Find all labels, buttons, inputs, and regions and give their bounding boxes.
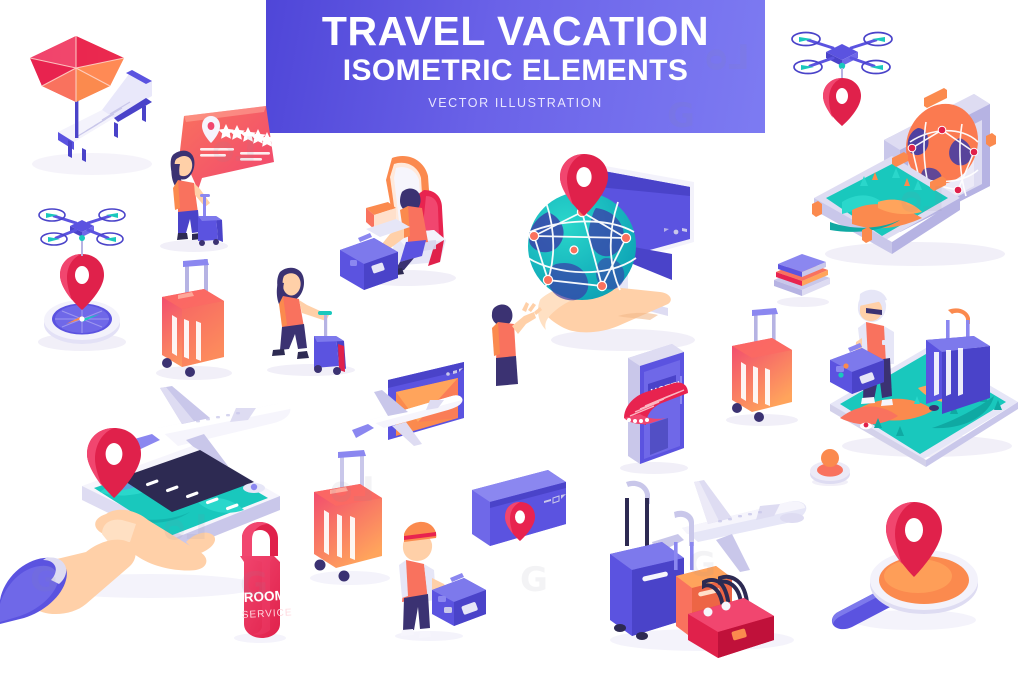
airplane-seat-passenger bbox=[336, 150, 466, 295]
room-service-hanger[interactable]: ROOM SERVICE bbox=[216, 520, 301, 645]
luggage-airplane-group bbox=[592, 458, 817, 653]
rolling-suitcase-icon bbox=[314, 311, 346, 375]
page-title: TRAVEL VACATION bbox=[322, 8, 709, 54]
briefcase-icon bbox=[432, 573, 486, 626]
drone-icon bbox=[39, 209, 125, 245]
svg-text:SERVICE: SERVICE bbox=[242, 607, 293, 621]
person-looking-up bbox=[492, 302, 542, 386]
title-banner: TRAVEL VACATION ISOMETRIC ELEMENTS VECTO… bbox=[266, 0, 765, 133]
hotel-phone-awning[interactable]: HOTEL bbox=[606, 336, 701, 476]
map-pin-icon bbox=[60, 254, 104, 310]
blue-suitcase-icon bbox=[610, 481, 684, 640]
beach-umbrella-icon bbox=[30, 36, 124, 102]
svg-text:ROOM: ROOM bbox=[243, 588, 286, 605]
page-tagline: VECTOR ILLUSTRATION bbox=[428, 95, 602, 111]
drone-icon bbox=[792, 33, 892, 74]
illustration-canvas: TRAVEL VACATION ISOMETRIC ELEMENTS VECTO… bbox=[0, 0, 1024, 681]
pink-suitcase-right bbox=[712, 306, 812, 431]
browser-window-pin[interactable] bbox=[458, 458, 578, 558]
red-suitcase bbox=[142, 255, 247, 385]
watermark: G bbox=[520, 560, 548, 600]
page-subtitle: ISOMETRIC ELEMENTS bbox=[343, 54, 689, 88]
magnifier-pin bbox=[822, 492, 1002, 642]
traveler-map-platform bbox=[822, 278, 1024, 463]
drone-pin-compass bbox=[22, 192, 142, 360]
open-suitcase-globe-map bbox=[790, 82, 1024, 267]
window-airplane[interactable] bbox=[366, 358, 486, 463]
rolling-suitcase-icon bbox=[926, 308, 990, 414]
woman-with-suitcase bbox=[148, 138, 243, 253]
beach-umbrella-lounger bbox=[14, 18, 164, 178]
